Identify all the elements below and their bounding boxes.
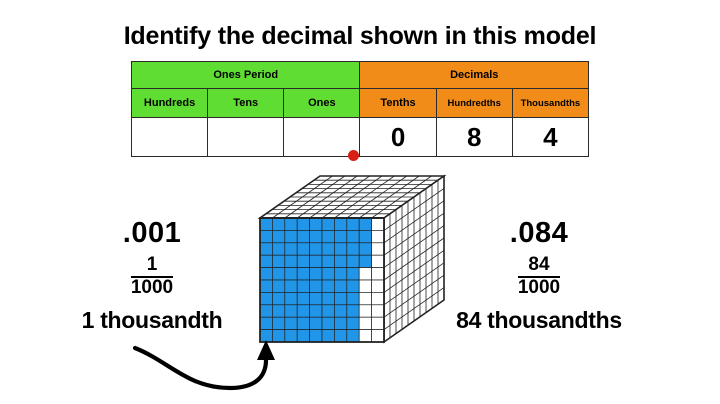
column-header-ones: Ones: [284, 89, 360, 118]
period-header-decimals: Decimals: [360, 62, 589, 89]
column-header-thousandths: Thousandths: [512, 89, 588, 118]
left-fraction-denominator: 1000: [131, 278, 173, 299]
value-cell-hundreds[interactable]: [132, 118, 208, 157]
decimal-point-marker: [348, 150, 359, 161]
place-value-table: Ones Period Decimals Hundreds Tens Ones …: [131, 61, 589, 157]
pointer-arrow-icon: [130, 330, 310, 396]
column-header-hundredths: Hundredths: [436, 89, 512, 118]
value-cell-thousandths[interactable]: 4: [512, 118, 588, 157]
right-words-label: 84 thousandths: [424, 307, 654, 334]
table-period-row: Ones Period Decimals: [132, 62, 589, 89]
value-cell-tenths[interactable]: 0: [360, 118, 436, 157]
value-cell-hundredths[interactable]: 8: [436, 118, 512, 157]
column-header-tens: Tens: [208, 89, 284, 118]
right-decimal-value: .084: [424, 218, 654, 248]
table-column-header-row: Hundreds Tens Ones Tenths Hundredths Tho…: [132, 89, 589, 118]
table-value-row: 0 8 4: [132, 118, 589, 157]
value-cell-ones[interactable]: [284, 118, 360, 157]
left-fraction-numerator: 1: [131, 255, 173, 278]
value-cell-tens[interactable]: [208, 118, 284, 157]
page-title: Identify the decimal shown in this model: [0, 22, 720, 51]
left-unit-label: .001 1 1000 1 thousandth: [52, 218, 252, 334]
right-fraction: 84 1000: [518, 255, 560, 298]
column-header-hundreds: Hundreds: [132, 89, 208, 118]
right-fraction-numerator: 84: [518, 255, 560, 278]
right-total-label: .084 84 1000 84 thousandths: [424, 218, 654, 334]
left-decimal-value: .001: [52, 218, 252, 248]
period-header-ones: Ones Period: [132, 62, 360, 89]
left-fraction: 1 1000: [131, 255, 173, 298]
right-fraction-denominator: 1000: [518, 278, 560, 299]
column-header-tenths: Tenths: [360, 89, 436, 118]
